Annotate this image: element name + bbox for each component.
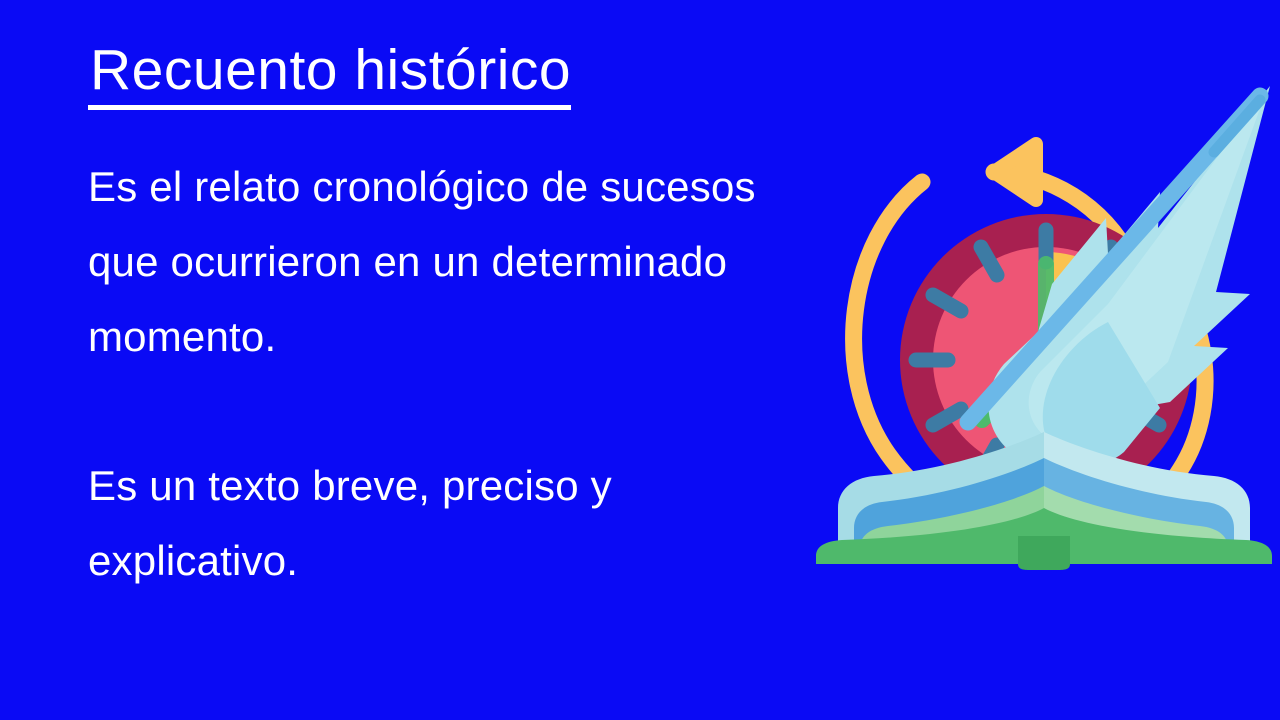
book-spine	[1018, 536, 1070, 570]
body-paragraph-2: Es un texto breve, preciso y explicativo…	[88, 448, 778, 598]
slide-canvas: Recuento histórico Es el relato cronológ…	[0, 0, 1280, 720]
text-column: Recuento histórico Es el relato cronológ…	[88, 42, 778, 598]
clock-quill-book-illustration	[808, 72, 1280, 570]
page-title: Recuento histórico	[88, 42, 571, 110]
body-paragraph-1: Es el relato cronológico de sucesos que …	[88, 149, 778, 374]
